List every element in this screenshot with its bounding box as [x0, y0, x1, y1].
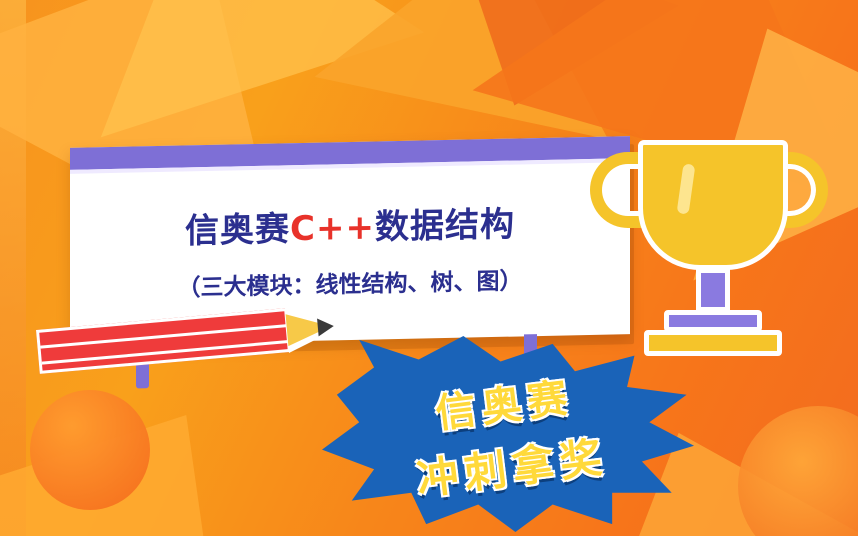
course-title-suffix: 数据结构	[375, 204, 515, 247]
pencil-nib	[317, 317, 335, 336]
poster-canvas: 信奥赛C++数据结构 （三大模块：线性结构、树、图） 信奥赛 冲刺拿奖	[0, 0, 858, 536]
whiteboard-text-block: 信奥赛C++数据结构 （三大模块：线性结构、树、图）	[70, 136, 630, 346]
promo-burst-badge: 信奥赛 冲刺拿奖	[322, 336, 694, 532]
background-circle-bottom-left	[30, 390, 150, 510]
trophy-stem	[696, 268, 730, 312]
trophy-cup	[638, 140, 788, 270]
course-title-prefix: 信奥赛	[185, 209, 290, 251]
course-title: 信奥赛C++数据结构	[185, 196, 515, 252]
course-subtitle: （三大模块：线性结构、树、图）	[178, 261, 523, 302]
course-title-accent: C++	[290, 207, 375, 249]
